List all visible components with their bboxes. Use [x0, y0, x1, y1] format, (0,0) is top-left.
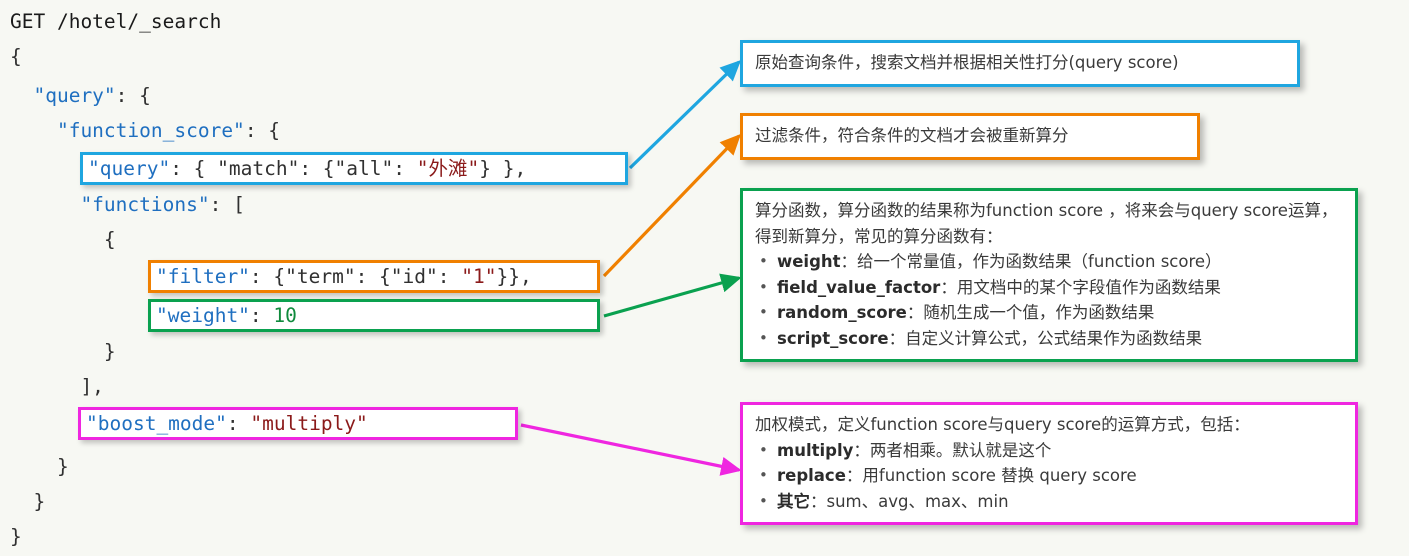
code-line-open-brace: { — [10, 45, 22, 68]
code-punct: : — [227, 412, 250, 435]
code-string: "multiply" — [250, 412, 367, 435]
code-line-close-2: } — [10, 490, 45, 513]
code-punct: { — [10, 228, 116, 251]
code-line-array-close-brace: } — [10, 340, 116, 363]
code-number: 10 — [273, 304, 296, 327]
code-key: "query" — [88, 157, 170, 180]
list-item-term: weight — [777, 252, 841, 271]
annotation-filter-text: 过滤条件，符合条件的文档才会被重新算分 — [755, 123, 1187, 149]
code-line-boost-mode: "boost_mode": "multiply" — [81, 410, 515, 437]
list-item-desc: ：用文档中的某个字段值作为函数结果 — [940, 278, 1221, 297]
code-line-functions-open: "functions": [ — [10, 193, 245, 216]
code-line-query: "query": { "match": {"all": "外滩"} }, — [83, 155, 625, 182]
annotation-boost-mode-head: 加权模式，定义function score与query score的运算方式，包… — [755, 412, 1345, 438]
list-item: multiply：两者相乘。默认就是这个 — [755, 438, 1345, 464]
list-item-desc: ：sum、avg、max、min — [810, 492, 1009, 511]
code-line-close-1: } — [10, 525, 22, 548]
annotation-boost-mode: 加权模式，定义function score与query score的运算方式，包… — [740, 402, 1358, 525]
list-item-term: script_score — [777, 329, 889, 348]
code-text: "functions" — [10, 193, 210, 216]
list-item-term: 其它 — [777, 492, 810, 511]
code-punct: } — [10, 525, 22, 548]
code-key: "boost_mode" — [86, 412, 227, 435]
list-item: replace：用function score 替换 query score — [755, 463, 1345, 489]
code-string: "1" — [461, 265, 496, 288]
code-text: "function_score" — [10, 119, 245, 142]
code-highlight-boost-mode[interactable]: "boost_mode": "multiply" — [78, 407, 518, 440]
code-punct: : [ — [210, 193, 245, 216]
code-punct-tail: } }, — [479, 157, 526, 180]
code-punct-tail: }}, — [496, 265, 531, 288]
list-item-term: random_score — [777, 303, 907, 322]
code-text: { — [10, 45, 22, 68]
list-item-desc: ：两者相乘。默认就是这个 — [853, 441, 1051, 460]
list-item-term: field_value_factor — [777, 278, 940, 297]
annotation-functions: 算分函数，算分函数的结果称为function score ，将来会与query … — [740, 188, 1358, 362]
code-line-query-open: "query": { — [10, 84, 151, 107]
code-highlight-query[interactable]: "query": { "match": {"all": "外滩"} }, — [80, 152, 628, 185]
code-string: "外滩" — [417, 157, 479, 180]
code-punct: } — [10, 340, 116, 363]
annotation-query-text: 原始查询条件，搜索文档并根据相关性打分(query score) — [755, 50, 1287, 76]
code-punct: } — [10, 490, 45, 513]
code-line-weight: "weight": 10 — [151, 302, 597, 329]
list-item: field_value_factor：用文档中的某个字段值作为函数结果 — [755, 275, 1345, 301]
annotation-functions-list: weight：给一个常量值，作为函数结果（function score） fie… — [755, 249, 1345, 351]
code-punct: : { "match": {"all": — [170, 157, 417, 180]
annotation-filter: 过滤条件，符合条件的文档才会被重新算分 — [740, 113, 1200, 160]
list-item-desc: ：随机生成一个值，作为函数结果 — [907, 303, 1155, 322]
code-punct: : {"term": {"id": — [250, 265, 461, 288]
code-text: "query" — [10, 84, 116, 107]
annotation-boost-mode-list: multiply：两者相乘。默认就是这个 replace：用function s… — [755, 438, 1345, 515]
code-key: "filter" — [156, 265, 250, 288]
list-item: weight：给一个常量值，作为函数结果（function score） — [755, 249, 1345, 275]
code-punct: : — [250, 304, 273, 327]
code-line-filter: "filter": {"term": {"id": "1"}}, — [151, 263, 597, 290]
annotation-query: 原始查询条件，搜索文档并根据相关性打分(query score) — [740, 40, 1300, 87]
list-item-desc: ：自定义计算公式，公式结果作为函数结果 — [889, 329, 1203, 348]
code-key: "weight" — [156, 304, 250, 327]
code-punct: : { — [116, 84, 151, 107]
code-punct: ], — [10, 375, 104, 398]
annotation-functions-head: 算分函数，算分函数的结果称为function score ，将来会与query … — [755, 198, 1345, 249]
list-item: random_score：随机生成一个值，作为函数结果 — [755, 300, 1345, 326]
list-item: script_score：自定义计算公式，公式结果作为函数结果 — [755, 326, 1345, 352]
code-highlight-filter[interactable]: "filter": {"term": {"id": "1"}}, — [148, 260, 600, 293]
code-punct: } — [10, 455, 69, 478]
code-line-function-score-open: "function_score": { — [10, 119, 280, 142]
code-line-request: GET /hotel/_search — [10, 10, 221, 33]
code-line-functions-close: ], — [10, 375, 104, 398]
code-panel: GET /hotel/_search { "query": { "functio… — [0, 0, 740, 556]
list-item-term: replace — [777, 466, 846, 485]
list-item-desc: ：给一个常量值，作为函数结果（function score） — [841, 252, 1222, 271]
list-item-desc: ：用function score 替换 query score — [846, 466, 1137, 485]
code-line-close-3: } — [10, 455, 69, 478]
list-item: 其它：sum、avg、max、min — [755, 489, 1345, 515]
code-punct: : { — [245, 119, 280, 142]
request-line-text: GET /hotel/_search — [10, 10, 221, 33]
code-line-array-open-brace: { — [10, 228, 116, 251]
list-item-term: multiply — [777, 441, 853, 460]
code-highlight-weight[interactable]: "weight": 10 — [148, 299, 600, 332]
